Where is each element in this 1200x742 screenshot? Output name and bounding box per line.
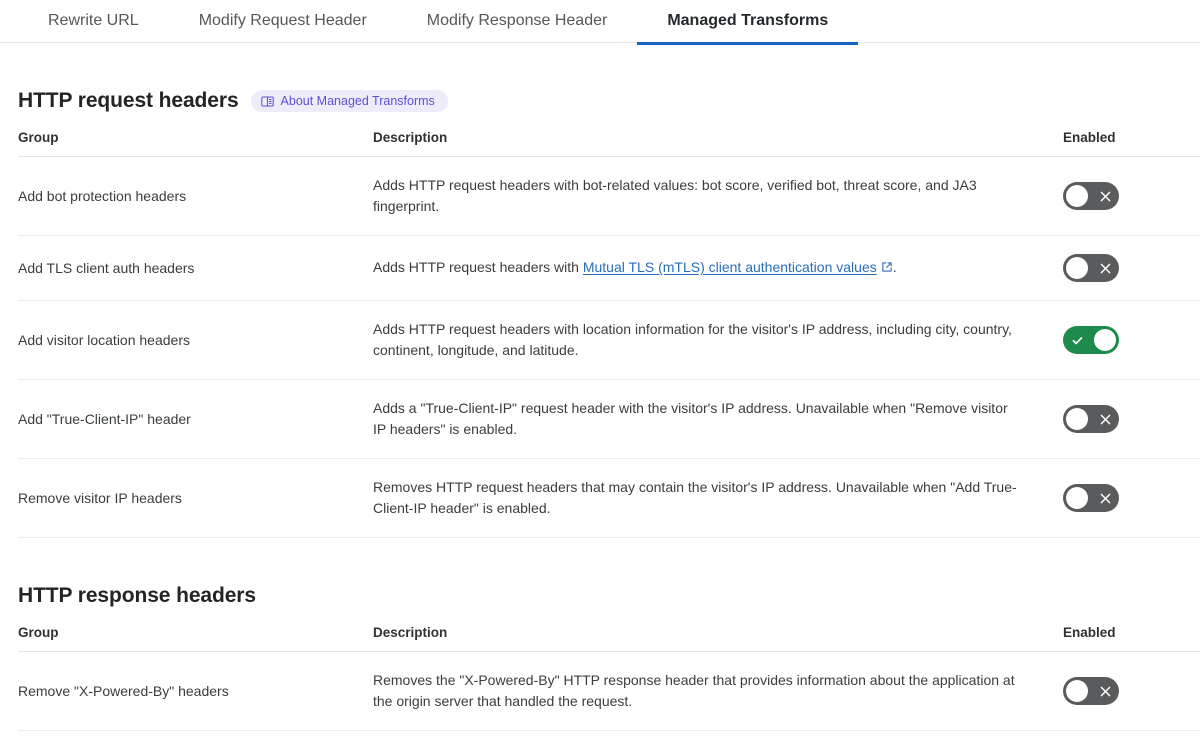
row-enabled-cell xyxy=(1063,157,1200,236)
book-icon xyxy=(261,95,274,108)
row-group-name: Add visitor location headers xyxy=(18,301,373,380)
row-group-name: Add security headers xyxy=(18,731,373,742)
http-response-headers-section: HTTP response headers Group Description … xyxy=(0,584,1200,742)
description-prefix: Adds HTTP request headers with xyxy=(373,259,583,275)
toggle-knob xyxy=(1066,257,1088,279)
row-description: Adds HTTP request headers with bot-relat… xyxy=(373,157,1063,236)
badge-label: About Managed Transforms xyxy=(281,94,435,108)
http-request-headers-section: HTTP request headers About Managed Trans… xyxy=(0,89,1200,538)
table-row: Add TLS client auth headers Adds HTTP re… xyxy=(18,236,1200,301)
toggle-add-bot-protection-headers[interactable] xyxy=(1063,182,1119,210)
row-description: Removes the "X-Powered-By" HTTP response… xyxy=(373,652,1063,731)
row-enabled-cell xyxy=(1063,301,1200,380)
row-group-name: Remove visitor IP headers xyxy=(18,459,373,538)
response-section-header: HTTP response headers xyxy=(18,584,1182,608)
tab-rewrite-url[interactable]: Rewrite URL xyxy=(18,0,169,44)
tab-modify-response-header[interactable]: Modify Response Header xyxy=(397,0,638,44)
toggle-knob xyxy=(1066,487,1088,509)
toggle-remove-x-powered-by-headers[interactable] xyxy=(1063,677,1119,705)
close-icon xyxy=(1091,254,1119,282)
close-icon xyxy=(1091,405,1119,433)
toggle-knob xyxy=(1066,408,1088,430)
external-link-icon[interactable] xyxy=(881,258,893,279)
row-group-name: Add bot protection headers xyxy=(18,157,373,236)
row-description: Adds HTTP request headers with Mutual TL… xyxy=(373,236,1063,301)
toggle-knob xyxy=(1066,185,1088,207)
row-group-name: Remove "X-Powered-By" headers xyxy=(18,652,373,731)
table-row: Add "True-Client-IP" header Adds a "True… xyxy=(18,380,1200,459)
column-header-enabled: Enabled xyxy=(1063,121,1200,157)
row-description: Removes HTTP request headers that may co… xyxy=(373,459,1063,538)
table-row: Add security headers Adds several securi… xyxy=(18,731,1200,742)
column-header-group: Group xyxy=(18,616,373,652)
row-group-name: Add "True-Client-IP" header xyxy=(18,380,373,459)
row-enabled-cell xyxy=(1063,236,1200,301)
row-description: Adds HTTP request headers with location … xyxy=(373,301,1063,380)
request-section-header: HTTP request headers About Managed Trans… xyxy=(18,89,1182,113)
table-row: Remove visitor IP headers Removes HTTP r… xyxy=(18,459,1200,538)
column-header-description: Description xyxy=(373,121,1063,157)
table-header-row: Group Description Enabled xyxy=(18,121,1200,157)
toggle-add-tls-client-auth-headers[interactable] xyxy=(1063,254,1119,282)
row-enabled-cell xyxy=(1063,459,1200,538)
toggle-add-true-client-ip-header[interactable] xyxy=(1063,405,1119,433)
row-enabled-cell xyxy=(1063,380,1200,459)
about-managed-transforms-badge[interactable]: About Managed Transforms xyxy=(251,90,448,112)
column-header-group: Group xyxy=(18,121,373,157)
toggle-add-visitor-location-headers[interactable] xyxy=(1063,326,1119,354)
row-description: Adds several security-related HTTP respo… xyxy=(373,731,1063,742)
row-group-name: Add TLS client auth headers xyxy=(18,236,373,301)
page-title-response: HTTP response headers xyxy=(18,584,256,608)
tab-bar: Rewrite URL Modify Request Header Modify… xyxy=(0,0,1200,43)
description-suffix: . xyxy=(893,259,897,275)
page-title-request: HTTP request headers xyxy=(18,89,239,113)
request-headers-table: Group Description Enabled Add bot protec… xyxy=(18,121,1200,538)
toggle-knob xyxy=(1094,329,1116,351)
row-enabled-cell xyxy=(1063,652,1200,731)
column-header-description: Description xyxy=(373,616,1063,652)
table-row: Remove "X-Powered-By" headers Removes th… xyxy=(18,652,1200,731)
close-icon xyxy=(1091,182,1119,210)
table-row: Add visitor location headers Adds HTTP r… xyxy=(18,301,1200,380)
row-description: Adds a "True-Client-IP" request header w… xyxy=(373,380,1063,459)
table-row: Add bot protection headers Adds HTTP req… xyxy=(18,157,1200,236)
tab-modify-request-header[interactable]: Modify Request Header xyxy=(169,0,397,44)
row-enabled-cell xyxy=(1063,731,1200,742)
close-icon xyxy=(1091,484,1119,512)
response-headers-table: Group Description Enabled Remove "X-Powe… xyxy=(18,616,1200,742)
column-header-enabled: Enabled xyxy=(1063,616,1200,652)
close-icon xyxy=(1091,677,1119,705)
check-icon xyxy=(1063,326,1091,354)
toggle-knob xyxy=(1066,680,1088,702)
tab-managed-transforms[interactable]: Managed Transforms xyxy=(637,0,858,44)
table-header-row: Group Description Enabled xyxy=(18,616,1200,652)
toggle-remove-visitor-ip-headers[interactable] xyxy=(1063,484,1119,512)
mtls-client-authentication-link[interactable]: Mutual TLS (mTLS) client authentication … xyxy=(583,259,877,275)
